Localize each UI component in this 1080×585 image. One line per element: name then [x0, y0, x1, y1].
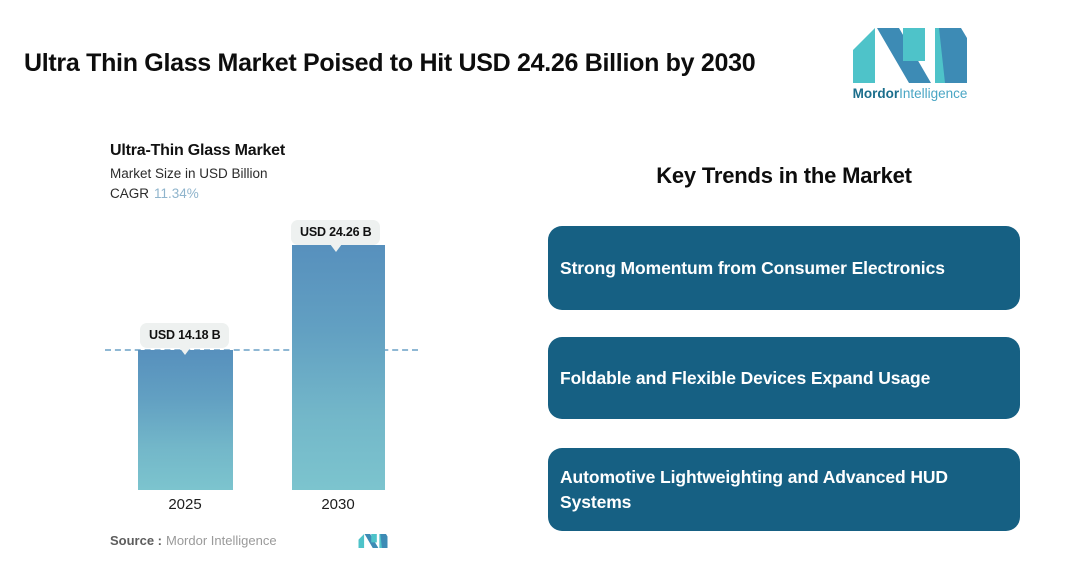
source-value: Mordor Intelligence	[166, 533, 277, 548]
page-title: Ultra Thin Glass Market Poised to Hit US…	[24, 48, 814, 78]
key-trends-heading: Key Trends in the Market	[548, 163, 1020, 189]
trend-card-1[interactable]: Foldable and Flexible Devices Expand Usa…	[548, 337, 1020, 419]
bar-value-label-2030: USD 24.26 B	[291, 220, 380, 245]
bar-chart-plot-area: USD 14.18 B USD 24.26 B 2025 2030	[0, 130, 470, 560]
market-size-chart-panel: Ultra-Thin Glass Market Market Size in U…	[0, 130, 470, 560]
bar-2025	[138, 350, 233, 490]
mordor-logo-mark-small	[358, 530, 388, 552]
trend-card-1-label: Foldable and Flexible Devices Expand Usa…	[548, 366, 952, 390]
x-axis-tick-2025: 2025	[135, 496, 235, 513]
logo-word-mordor: Mordor	[853, 86, 900, 101]
trend-card-2[interactable]: Automotive Lightweighting and Advanced H…	[548, 448, 1020, 531]
mordor-logo-wordmark: MordorIntelligence	[845, 87, 975, 101]
source-row: Source : Mordor Intelligence	[110, 530, 400, 556]
logo-word-intelligence: Intelligence	[899, 86, 967, 101]
mordor-intelligence-logo: MordorIntelligence	[845, 28, 975, 108]
trend-card-0-label: Strong Momentum from Consumer Electronic…	[548, 256, 967, 280]
source-label: Source :	[110, 533, 162, 548]
trend-card-2-label: Automotive Lightweighting and Advanced H…	[548, 465, 1020, 513]
x-axis-tick-2030: 2030	[288, 496, 388, 513]
bar-2030	[292, 245, 385, 490]
bar-value-label-2025: USD 14.18 B	[140, 323, 229, 348]
trend-card-0[interactable]: Strong Momentum from Consumer Electronic…	[548, 226, 1020, 310]
mordor-logo-mark	[851, 28, 969, 83]
